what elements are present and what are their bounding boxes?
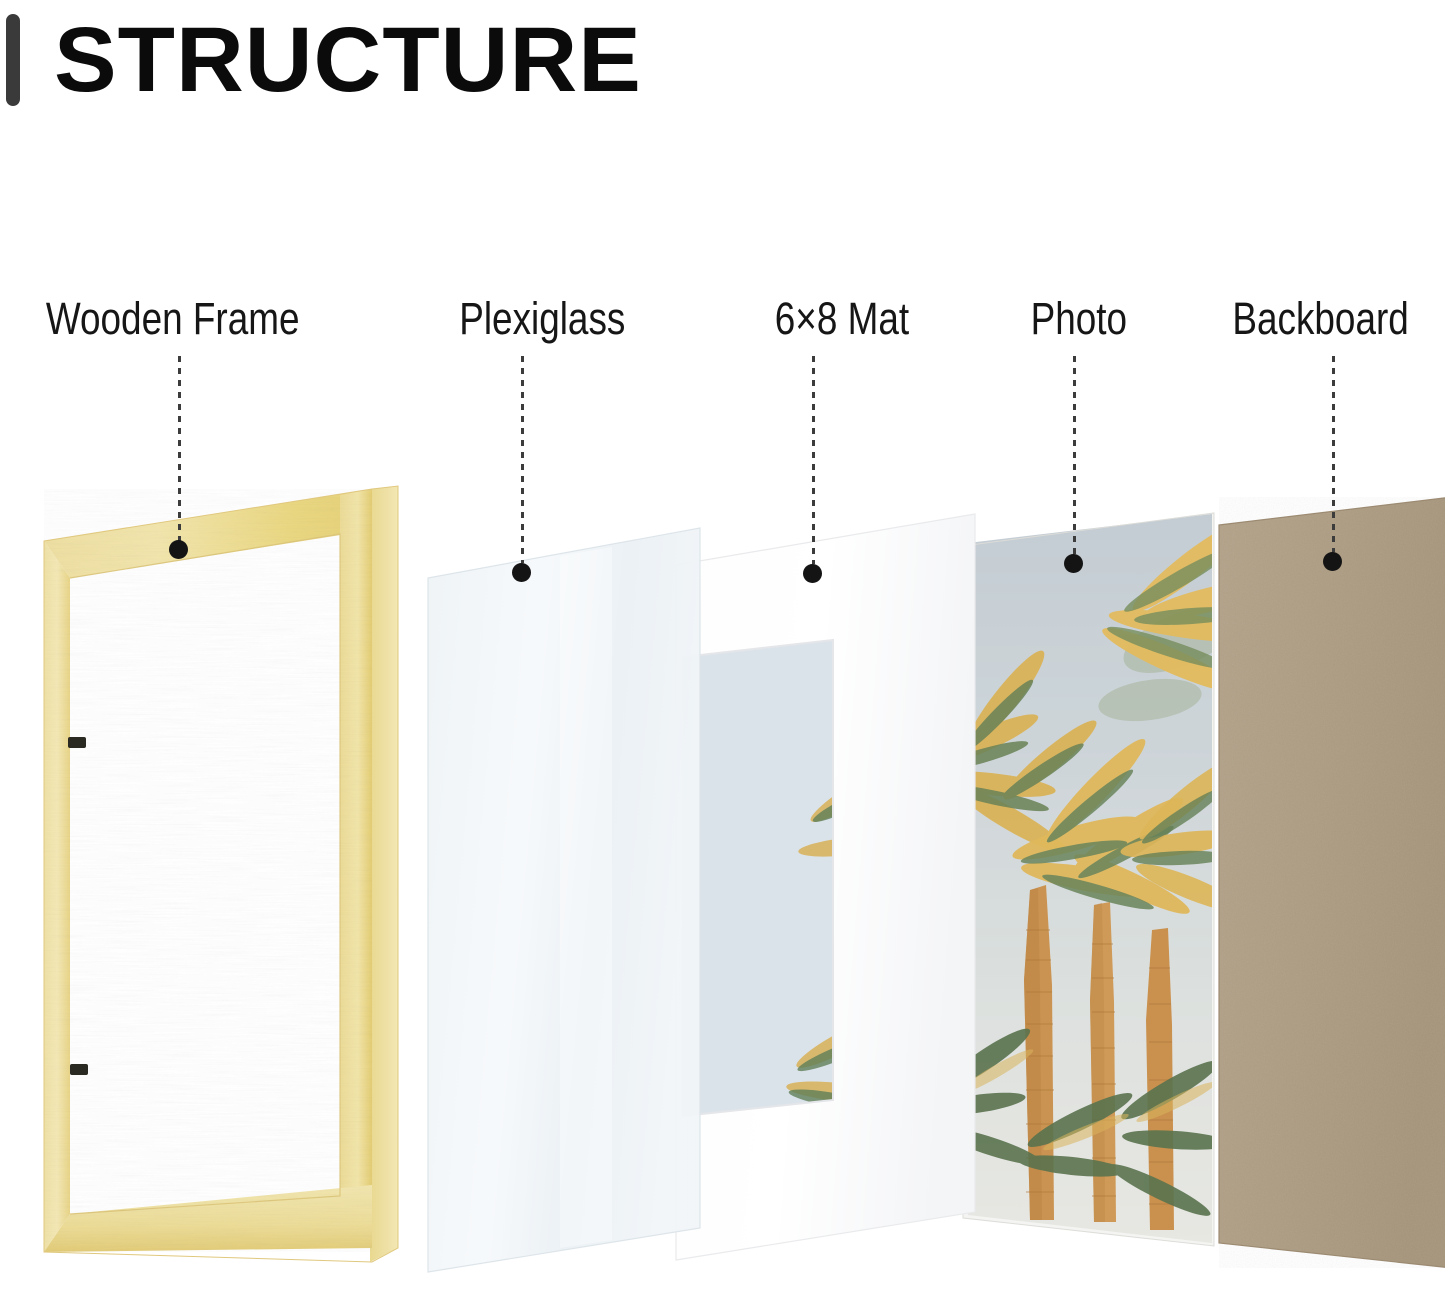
layer-wooden-frame [44,486,398,1262]
label-wooden-frame: Wooden Frame [46,296,300,341]
frame-hardware-tab-upper [68,737,86,748]
leader-dot-photo [1064,554,1083,573]
label-backboard: Backboard [1232,296,1408,341]
leader-dot-backboard [1323,552,1342,571]
label-mat: 6×8 Mat [775,296,909,341]
leader-line-wooden-frame [178,356,181,542]
leader-line-plexiglass [521,356,524,563]
exploded-diagram [0,0,1445,1292]
leader-dot-mat [803,564,822,583]
leader-dot-plexiglass [512,563,531,582]
leader-line-backboard [1332,356,1335,552]
label-plexiglass: Plexiglass [459,296,625,341]
infographic-page: STRUCTURE [0,0,1445,1292]
leader-line-photo [1073,356,1076,554]
label-photo: Photo [1031,296,1127,341]
leader-dot-wooden-frame [169,540,188,559]
layer-plexiglass [428,528,700,1272]
frame-hardware-tab-lower [70,1064,88,1075]
layer-backboard [1219,497,1445,1268]
layer-mat [660,514,975,1260]
leader-line-mat [812,356,815,564]
